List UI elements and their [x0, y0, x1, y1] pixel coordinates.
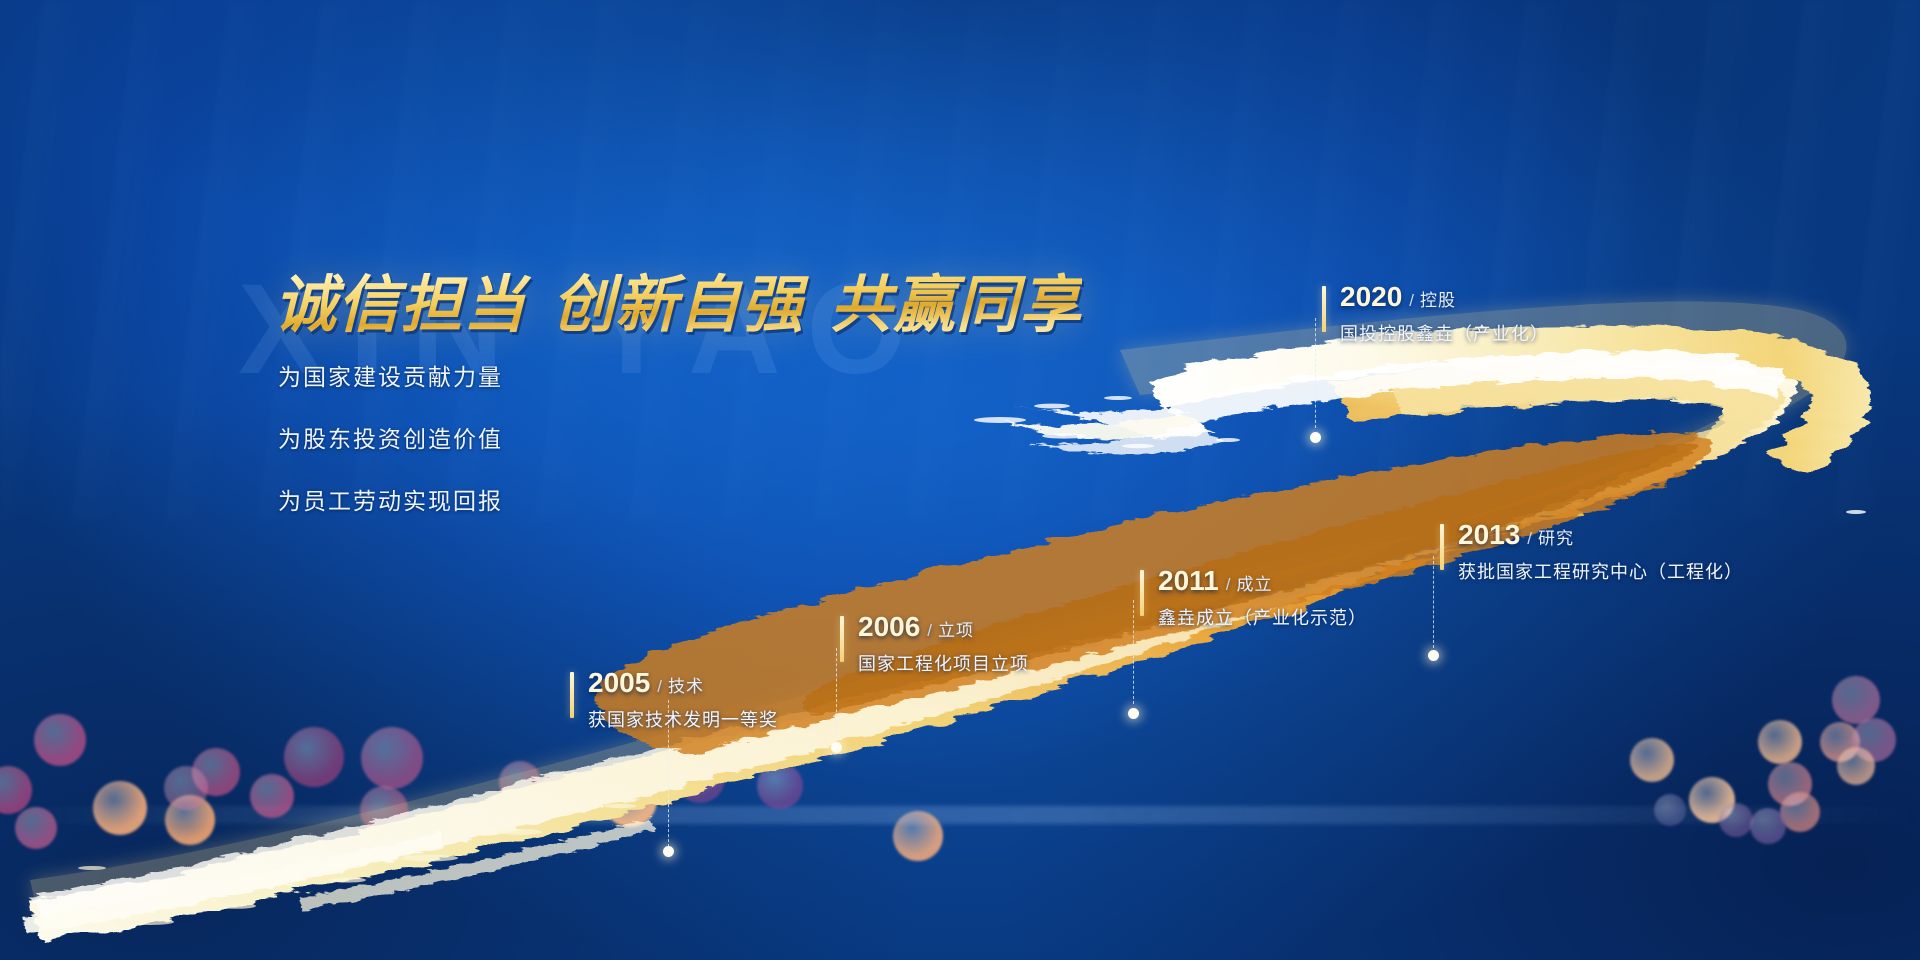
milestone-description: 获批国家工程研究中心（工程化） — [1458, 558, 1743, 584]
milestone-year: 2020/控股 — [1340, 281, 1456, 313]
milestone-year: 2011/成立 — [1158, 565, 1272, 597]
milestone-description: 国投控股鑫垚（产业化） — [1340, 320, 1549, 346]
milestone-separator-icon: / — [1409, 291, 1415, 310]
milestone-separator-icon: / — [1527, 529, 1533, 548]
milestone-dot[interactable] — [1428, 650, 1439, 661]
subline-item: 为股东投资创造价值 — [278, 420, 503, 454]
milestone-leader-line — [1133, 600, 1134, 704]
milestone-leader-line — [1433, 556, 1434, 648]
milestone-dot[interactable] — [831, 742, 842, 753]
milestone-dot[interactable] — [1310, 432, 1321, 443]
milestone-leader-line — [668, 700, 669, 852]
subline-item: 为员工劳动实现回报 — [278, 482, 503, 516]
subline-item: 为国家建设贡献力量 — [278, 358, 503, 392]
headline-part-3: 共赢同享 — [830, 272, 1082, 340]
milestone-accent-bar — [1322, 286, 1326, 332]
milestone-category: /立项 — [927, 621, 974, 640]
milestone-category: /研究 — [1527, 529, 1574, 548]
page-title: 诚信担当创新自强共赢同享 — [274, 254, 1082, 344]
subline-list: 为国家建设贡献力量 为股东投资创造价值 为员工劳动实现回报 — [278, 358, 503, 544]
milestone-description: 获国家技术发明一等奖 — [588, 706, 778, 732]
milestone-accent-bar — [570, 672, 574, 718]
milestone-dot[interactable] — [1128, 708, 1139, 719]
milestone-accent-bar — [1440, 524, 1444, 570]
milestone-description: 鑫垚成立（产业化示范） — [1158, 604, 1367, 630]
milestone-dot[interactable] — [663, 846, 674, 857]
milestone-description: 国家工程化项目立项 — [858, 650, 1029, 676]
milestone-category: /技术 — [657, 677, 704, 696]
milestone-separator-icon: / — [657, 677, 663, 696]
banner-stage: XIN YAO — [0, 0, 1920, 960]
headline-part-2: 创新自强 — [552, 272, 804, 340]
milestone-year: 2005/技术 — [588, 667, 704, 699]
milestone-year: 2006/立项 — [858, 611, 974, 643]
milestone-category: /控股 — [1409, 291, 1456, 310]
milestone-separator-icon: / — [927, 621, 933, 640]
milestone-category: /成立 — [1226, 575, 1273, 594]
milestone-leader-line — [836, 648, 837, 748]
milestone-accent-bar — [1140, 570, 1144, 616]
milestone-accent-bar — [840, 616, 844, 662]
milestone-leader-line — [1315, 318, 1316, 428]
milestone-year: 2013/研究 — [1458, 519, 1574, 551]
milestone-separator-icon: / — [1226, 575, 1232, 594]
headline-part-1: 诚信担当 — [274, 272, 526, 340]
